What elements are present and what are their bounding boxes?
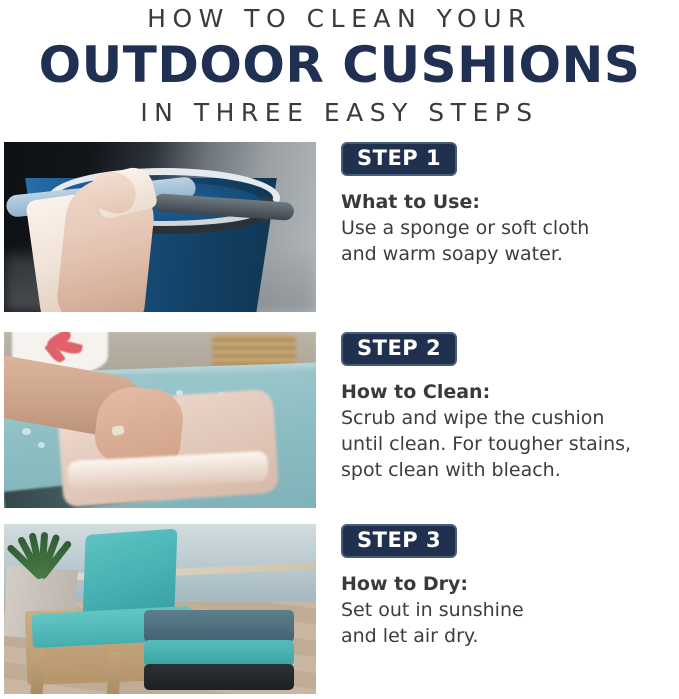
header-subkicker: IN THREE EASY STEPS [0, 98, 679, 128]
step-1-text-column: STEP 1 What to Use: Use a sponge or soft… [341, 142, 679, 312]
blue-bucket-with-cloth-photo [4, 142, 316, 312]
step-row-1: STEP 1 What to Use: Use a sponge or soft… [0, 142, 679, 312]
step-1-body-line: Use a sponge or soft cloth [341, 215, 679, 241]
step-2-badge: STEP 2 [341, 332, 457, 366]
header: HOW TO CLEAN YOUR OUTDOOR CUSHIONS IN TH… [0, 0, 679, 128]
step-2-body: Scrub and wipe the cushion until clean. … [341, 405, 679, 483]
step-3-badge-label: STEP 3 [357, 528, 441, 552]
step-3-title: How to Dry: [341, 572, 679, 596]
header-kicker: HOW TO CLEAN YOUR [0, 4, 679, 34]
infographic-page: HOW TO CLEAN YOUR OUTDOOR CUSHIONS IN TH… [0, 0, 679, 699]
step-3-body: Set out in sunshine and let air dry. [341, 597, 679, 649]
step-row-2: STEP 2 How to Clean: Scrub and wipe the … [0, 332, 679, 508]
patio-lounger-cushions-photo [4, 524, 316, 694]
page-title: OUTDOOR CUSHIONS [0, 36, 679, 94]
step-3-body-line: Set out in sunshine [341, 597, 679, 623]
step-2-text-column: STEP 2 How to Clean: Scrub and wipe the … [341, 332, 679, 508]
step-2-badge-label: STEP 2 [357, 336, 441, 360]
step-2-title: How to Clean: [341, 380, 679, 404]
step-1-body: Use a sponge or soft cloth and warm soap… [341, 215, 679, 267]
agave-plant-shape [10, 524, 74, 578]
step-1-title: What to Use: [341, 190, 679, 214]
step-3-text-column: STEP 3 How to Dry: Set out in sunshine a… [341, 524, 679, 694]
step-2-body-line: until clean. For tougher stains, [341, 431, 679, 457]
step-1-badge: STEP 1 [341, 142, 457, 176]
step-3-body-line: and let air dry. [341, 623, 679, 649]
step-2-body-line: Scrub and wipe the cushion [341, 405, 679, 431]
scrubbing-teal-cushion-photo [4, 332, 316, 508]
step-row-3: STEP 3 How to Dry: Set out in sunshine a… [0, 524, 679, 694]
step-3-badge: STEP 3 [341, 524, 457, 558]
step-2-body-line: spot clean with bleach. [341, 457, 679, 483]
step-1-badge-label: STEP 1 [357, 146, 441, 170]
step-1-body-line: and warm soapy water. [341, 241, 679, 267]
